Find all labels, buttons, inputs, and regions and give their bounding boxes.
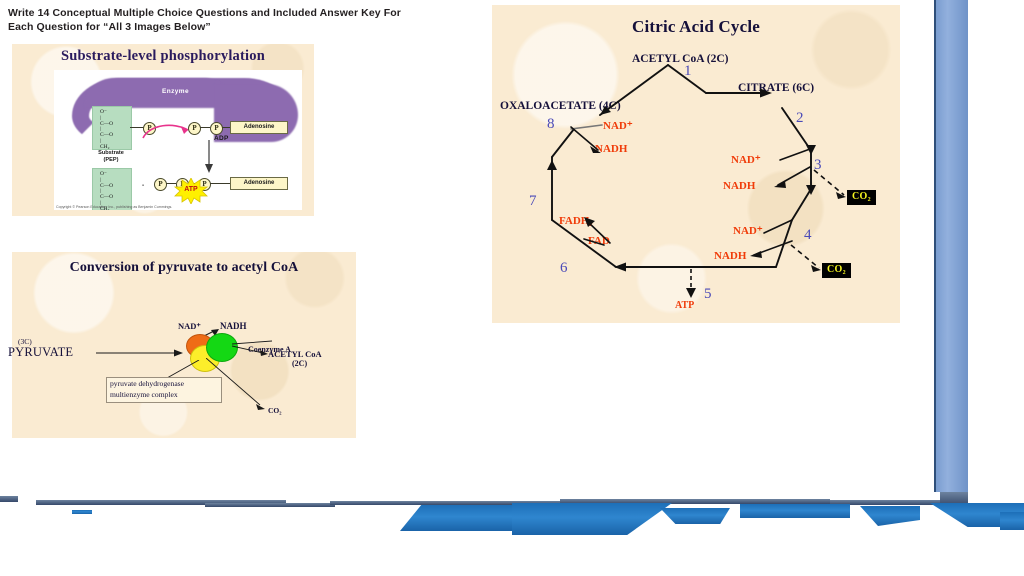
reaction-arrow-icon (204, 140, 214, 174)
bond-line (200, 127, 210, 128)
acetyl-coa-arrow-icon (232, 344, 272, 358)
product-molecule-box: O⁻ | C—O | C—O | CH₃ (92, 168, 132, 210)
slp-canvas: Enzyme O⁻ | C—O | C—O | CH₂ Substrate (P… (54, 70, 302, 210)
diagram-substrate-level-phosphorylation: Substrate-level phosphorylation Enzyme O… (12, 44, 314, 216)
enzyme-complex-line1: pyruvate dehydrogenase (110, 379, 220, 390)
copyright-notice: Copyright © Pearson Education, Inc., pub… (56, 205, 172, 209)
enzyme-complex-text: pyruvate dehydrogenase multienzyme compl… (110, 379, 220, 400)
pyruvate-reaction-arrow-icon (96, 347, 184, 359)
adp-phosphate-1: P (188, 122, 201, 135)
acetyl-coa-label: ACETYL CoA (268, 349, 322, 359)
prompt-heading: Write 14 Conceptual Multiple Choice Ques… (8, 6, 408, 34)
bond-line (222, 127, 230, 128)
atp-phosphate-1: P (154, 178, 167, 191)
bond-line (210, 183, 230, 184)
pyruvate-title: Conversion of pyruvate to acetyl CoA (12, 260, 356, 276)
substrate-caption-line1: Substrate (76, 150, 146, 157)
pyruvate-label: PYRUVATE (8, 345, 73, 360)
cycle-arrow-network (492, 5, 900, 323)
taskbar-artifact (0, 492, 1024, 576)
adenosine-box-top: Adenosine (230, 121, 288, 134)
document-page: Write 14 Conceptual Multiple Choice Ques… (0, 0, 940, 492)
diagram-citric-acid-cycle: Citric Acid Cycle ACETYL CoA (2C) CITRAT… (492, 5, 900, 323)
adenosine-box-bottom: Adenosine (230, 177, 288, 190)
acetyl-coa-carbon-count: (2C) (292, 359, 307, 368)
substrate-caption-line2: (PEP) (76, 157, 146, 164)
adp-label: ADP (214, 135, 229, 142)
enzyme-blob-top-icon (84, 78, 234, 108)
enzyme-label: Enzyme (162, 88, 189, 95)
adp-phosphate-2: P (210, 122, 223, 135)
slp-title: Substrate-level phosphorylation (12, 48, 314, 65)
enzyme-complex-line2: multienzyme complex (110, 390, 220, 401)
substrate-structure: O⁻ | C—O | C—O | CH₂ (100, 110, 113, 150)
minus-sign: - (142, 182, 144, 189)
atp-label: ATP (174, 186, 208, 193)
substrate-molecule-box: O⁻ | C—O | C—O | CH₂ (92, 106, 132, 150)
window-scrollbar[interactable] (934, 0, 968, 500)
pyruvate-co2-label: CO₂ (268, 406, 282, 415)
